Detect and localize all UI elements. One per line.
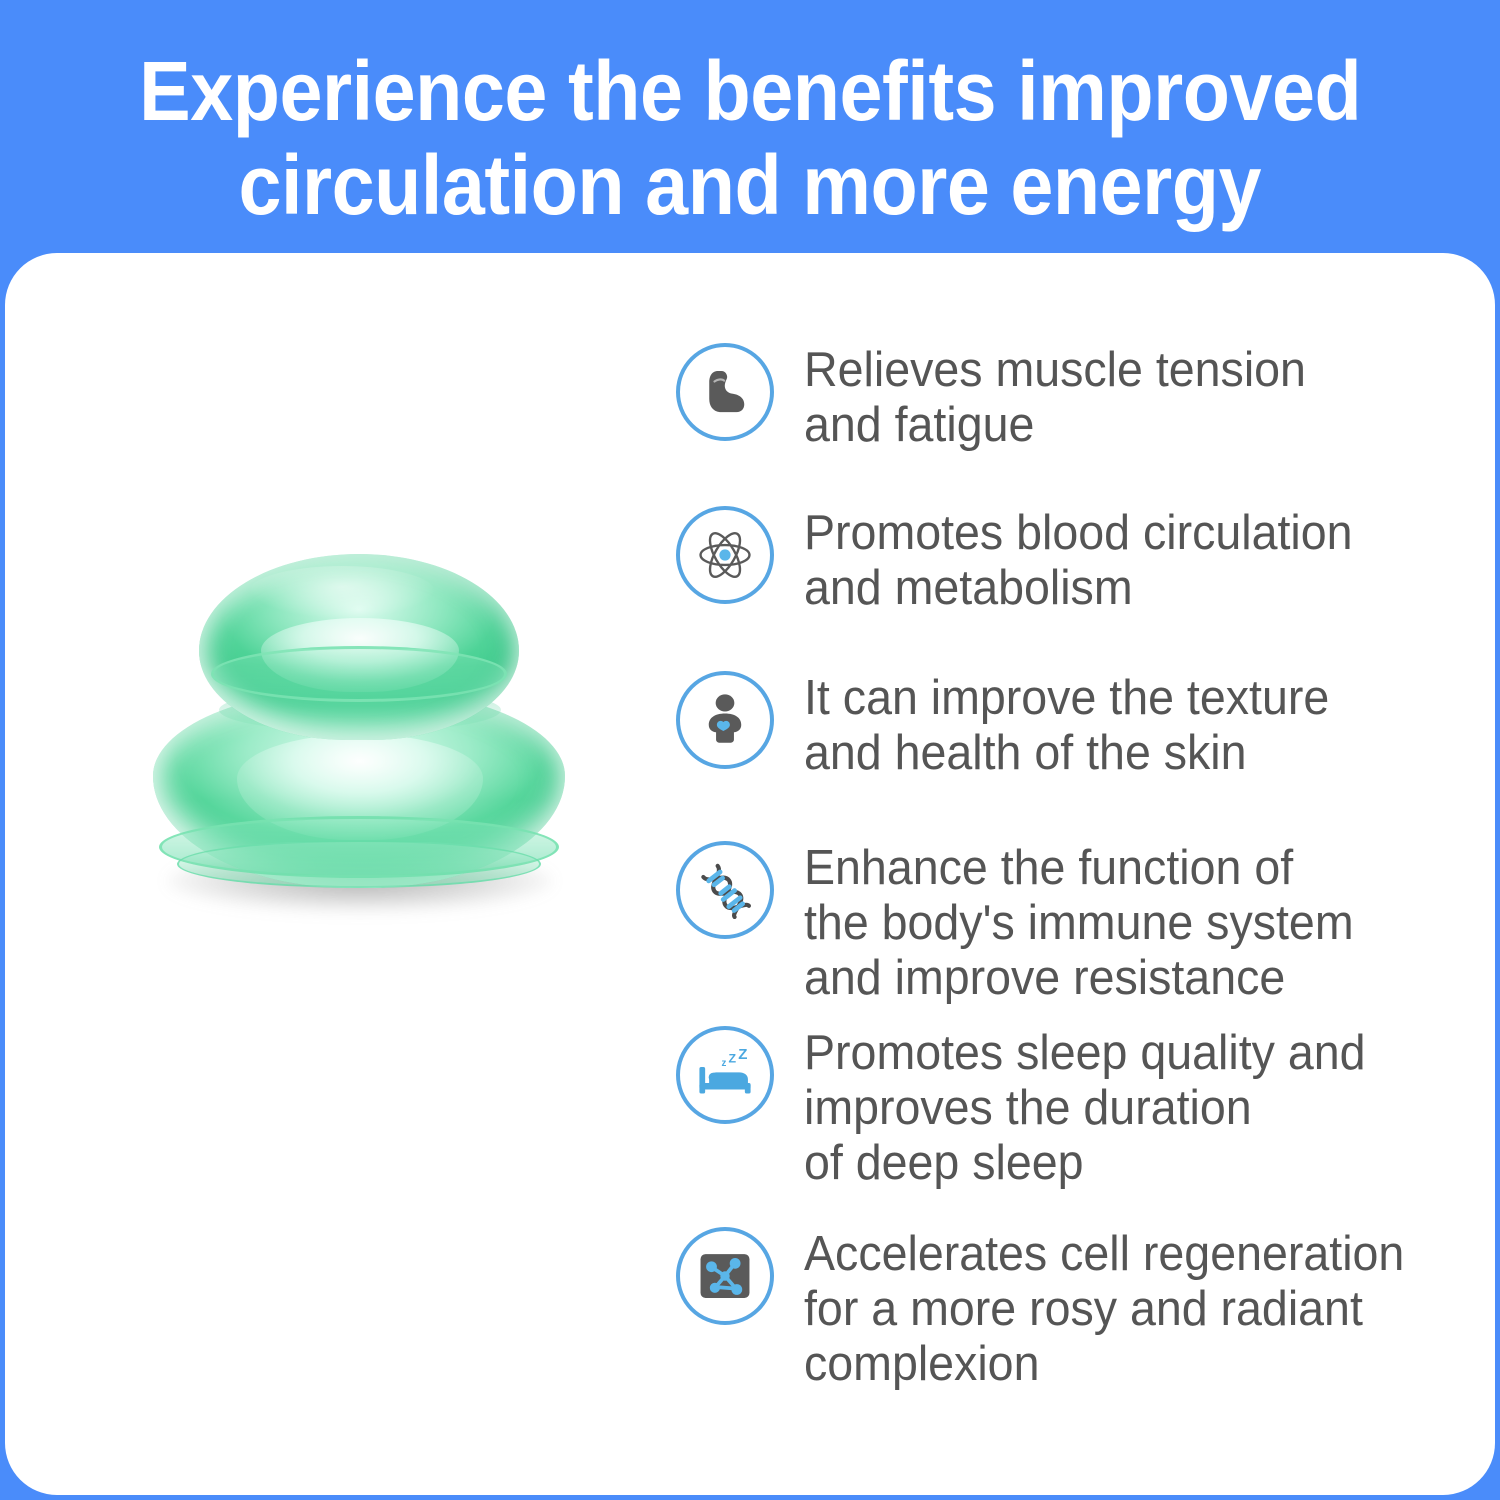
flexed-biceps-icon [676, 343, 774, 441]
benefit-label: Enhance the function of the body's immun… [804, 841, 1433, 1006]
cupping-cup-illustration [145, 520, 575, 920]
sleeping-bed-icon: z Z Z [676, 1026, 774, 1124]
benefit-item-cell-regeneration: Accelerates cell regeneration for a more… [676, 1227, 1466, 1392]
svg-text:Z: Z [729, 1052, 737, 1066]
page-title-line-2: circulation and more energy [239, 138, 1262, 232]
cup-top-highlight [249, 566, 435, 618]
benefit-item-blood-circulation: Promotes blood circulation and metabolis… [676, 506, 1466, 616]
benefit-label: Promotes sleep quality and improves the … [804, 1026, 1433, 1191]
atom-icon [676, 506, 774, 604]
benefit-label: Relieves muscle tension and fatigue [804, 343, 1433, 453]
benefit-item-sleep-quality: z Z Z Promotes sleep quality and improve… [676, 1026, 1466, 1191]
benefit-item-immune-system: Enhance the function of the body's immun… [676, 841, 1466, 1006]
cell-molecule-icon [676, 1227, 774, 1325]
svg-text:z: z [721, 1058, 726, 1069]
benefit-label: Accelerates cell regeneration for a more… [804, 1227, 1433, 1392]
infographic-root: Experience the benefits improved circula… [0, 0, 1500, 1500]
benefit-label: Promotes blood circulation and metabolis… [804, 506, 1433, 616]
page-title-line-1: Experience the benefits improved [139, 44, 1361, 138]
benefit-label: It can improve the texture and health of… [804, 671, 1433, 781]
cup-top-rim [211, 646, 507, 702]
product-image [60, 330, 660, 1110]
person-skin-health-icon [676, 671, 774, 769]
dna-helix-icon [676, 841, 774, 939]
benefit-item-muscle-tension: Relieves muscle tension and fatigue [676, 343, 1466, 453]
header-banner: Experience the benefits improved circula… [0, 0, 1500, 253]
cup-bottom-rim-inner [177, 840, 541, 888]
benefit-item-skin-texture: It can improve the texture and health of… [676, 671, 1466, 781]
svg-text:Z: Z [738, 1049, 747, 1063]
